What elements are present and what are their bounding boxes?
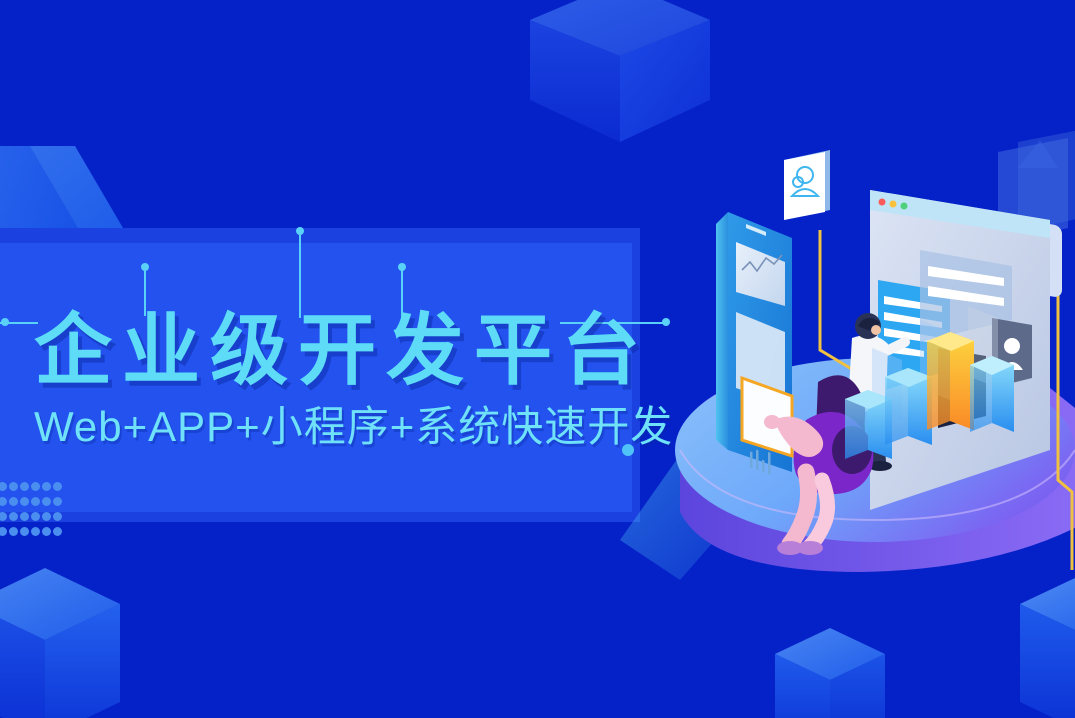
- hero-illustration: [620, 120, 1075, 620]
- accent-dot: [622, 444, 634, 456]
- connector-dot-2: [296, 227, 304, 235]
- cube-bottom-left-icon: [0, 568, 120, 718]
- smartphone: [716, 212, 792, 475]
- connector-dot-1: [141, 263, 149, 271]
- dot-grid: [0, 482, 64, 542]
- floating-card-user-icon: [784, 150, 830, 220]
- cube-bottom-right-small-icon: [775, 628, 885, 718]
- page-subtitle: Web+APP+小程序+系统快速开发: [34, 393, 673, 454]
- connector-dot-3: [398, 263, 406, 271]
- banner-canvas: 企业级开发平台 Web+APP+小程序+系统快速开发: [0, 0, 1075, 718]
- page-title: 企业级开发平台: [34, 288, 650, 400]
- connector-dot-left: [1, 318, 9, 326]
